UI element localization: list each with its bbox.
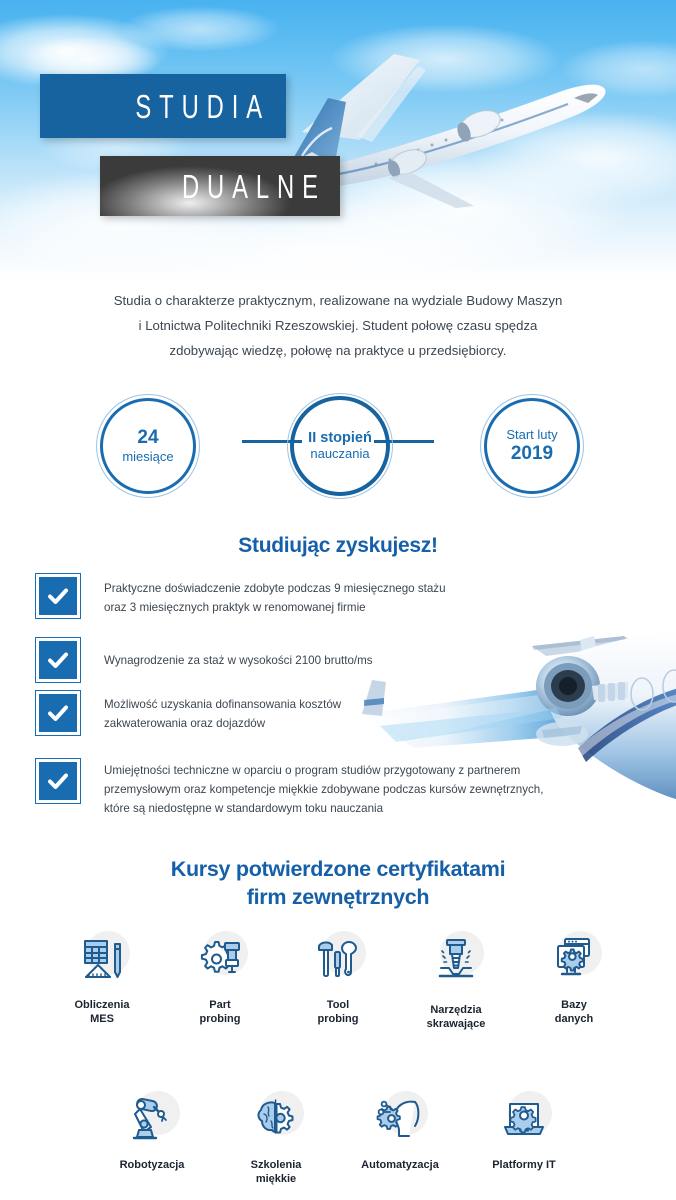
benefit-line: Praktyczne doświadczenie zdobyte podczas…	[104, 579, 446, 598]
benefit-text: Praktyczne doświadczenie zdobyte podczas…	[104, 574, 446, 617]
check-icon	[36, 638, 80, 682]
course-item-narzedzia-skrawajace[interactable]: Narzędzia skrawające	[397, 928, 515, 1031]
benefit-line: które są niedostępne w standardowym toku…	[104, 799, 543, 818]
intro-paragraph: Studia o charakterze praktycznym, realiz…	[68, 288, 608, 363]
intro-line-1: Studia o charakterze praktycznym, realiz…	[68, 288, 608, 313]
fact-degree-label: nauczania	[310, 446, 369, 462]
fact-duration-unit: miesiące	[122, 449, 173, 465]
fact-duration-value: 24	[137, 427, 158, 449]
fact-circle-duration: 24 miesiące	[100, 398, 196, 494]
courses-heading-line-1: Kursy potwierdzone certyfikatami	[0, 855, 676, 883]
course-label: Bazy danych	[555, 998, 594, 1026]
course-item-robotyzacja[interactable]: Robotyzacja	[90, 1088, 214, 1186]
hero-title-dualne-box: DUALNE	[100, 156, 340, 216]
check-icon	[36, 574, 80, 618]
course-label: Narzędzia skrawające	[427, 1003, 486, 1031]
hero-title-studia-text: STUDIA	[135, 90, 270, 123]
benefit-item: Wynagrodzenie za staż w wysokości 2100 b…	[36, 638, 373, 682]
key-facts-circles: 24 miesiące II stopień nauczania Start l…	[0, 386, 676, 496]
fact-degree-level: II stopień	[308, 430, 372, 447]
courses-heading: Kursy potwierdzone certyfikatami firm ze…	[0, 855, 676, 911]
course-label: Platformy IT	[492, 1158, 556, 1172]
intro-line-3: zdobywając wiedzę, połowę na praktyce u …	[68, 338, 608, 363]
course-grid-row-2: Robotyzacja	[0, 1088, 676, 1186]
gear-drill-probe-icon	[189, 928, 251, 990]
benefit-line: przemysłowym oraz kompetencje miękkie zd…	[104, 780, 543, 799]
laptop-gear-icon	[493, 1088, 555, 1150]
benefit-item: Umiejętności techniczne w oparciu o prog…	[36, 759, 543, 818]
benefit-item: Możliwość uzyskania dofinansowania koszt…	[36, 691, 341, 735]
course-grid-row-1: Obliczenia MES Part probing	[0, 928, 676, 1031]
head-gear-automation-icon	[369, 1088, 431, 1150]
fact-start-year: 2019	[511, 443, 553, 465]
hammer-screwdriver-wrench-icon	[307, 928, 369, 990]
course-label: Automatyzacja	[361, 1158, 439, 1172]
fact-start-label: Start luty	[506, 427, 557, 443]
brain-gear-icon	[245, 1088, 307, 1150]
benefit-text: Możliwość uzyskania dofinansowania koszt…	[104, 691, 341, 733]
course-label: Robotyzacja	[120, 1158, 185, 1172]
benefits-heading: Studiując zyskujesz!	[0, 534, 676, 558]
course-label: Szkolenia miękkie	[251, 1158, 302, 1186]
hero-title-dualne-text: DUALNE	[182, 170, 326, 203]
benefit-line: Możliwość uzyskania dofinansowania koszt…	[104, 695, 341, 714]
course-label: Obliczenia MES	[74, 998, 129, 1026]
course-item-szkolenia-miekkie[interactable]: Szkolenia miękkie	[214, 1088, 338, 1186]
fact-circle-degree: II stopień nauczania	[290, 396, 390, 496]
cutting-drill-bit-icon	[425, 928, 487, 990]
hero-title-studia-box: STUDIA	[40, 74, 286, 138]
fact-circle-start: Start luty 2019	[484, 398, 580, 494]
check-icon	[36, 691, 80, 735]
course-item-bazy-danych[interactable]: Bazy danych	[515, 928, 633, 1031]
courses-heading-line-2: firm zewnętrznych	[0, 883, 676, 911]
check-icon	[36, 759, 80, 803]
benefit-line: oraz 3 miesięcznych praktyk w renomowane…	[104, 598, 446, 617]
course-item-part-probing[interactable]: Part probing	[161, 928, 279, 1031]
course-item-tool-probing[interactable]: Tool probing	[279, 928, 397, 1031]
calculator-ruler-pencil-icon	[71, 928, 133, 990]
robot-arm-icon	[121, 1088, 183, 1150]
course-item-automatyzacja[interactable]: Automatyzacja	[338, 1088, 462, 1186]
intro-line-2: i Lotnictwa Politechniki Rzeszowskiej. S…	[68, 313, 608, 338]
benefit-text: Umiejętności techniczne w oparciu o prog…	[104, 759, 543, 818]
benefit-line: Umiejętności techniczne w oparciu o prog…	[104, 761, 543, 780]
course-item-obliczenia-mes[interactable]: Obliczenia MES	[43, 928, 161, 1031]
benefit-item: Praktyczne doświadczenie zdobyte podczas…	[36, 574, 446, 618]
course-item-platformy-it[interactable]: Platformy IT	[462, 1088, 586, 1186]
course-label: Tool probing	[318, 998, 359, 1026]
benefit-text: Wynagrodzenie za staż w wysokości 2100 b…	[104, 638, 373, 670]
benefit-line: zakwaterowania oraz dojazdów	[104, 714, 341, 733]
benefit-line: Wynagrodzenie za staż w wysokości 2100 b…	[104, 651, 373, 670]
course-label: Part probing	[200, 998, 241, 1026]
monitor-gear-database-icon	[543, 928, 605, 990]
infographic-page: STUDIA DUALNE Studia o charakterze prakt…	[0, 0, 676, 1200]
hero-banner: STUDIA DUALNE	[0, 0, 676, 282]
